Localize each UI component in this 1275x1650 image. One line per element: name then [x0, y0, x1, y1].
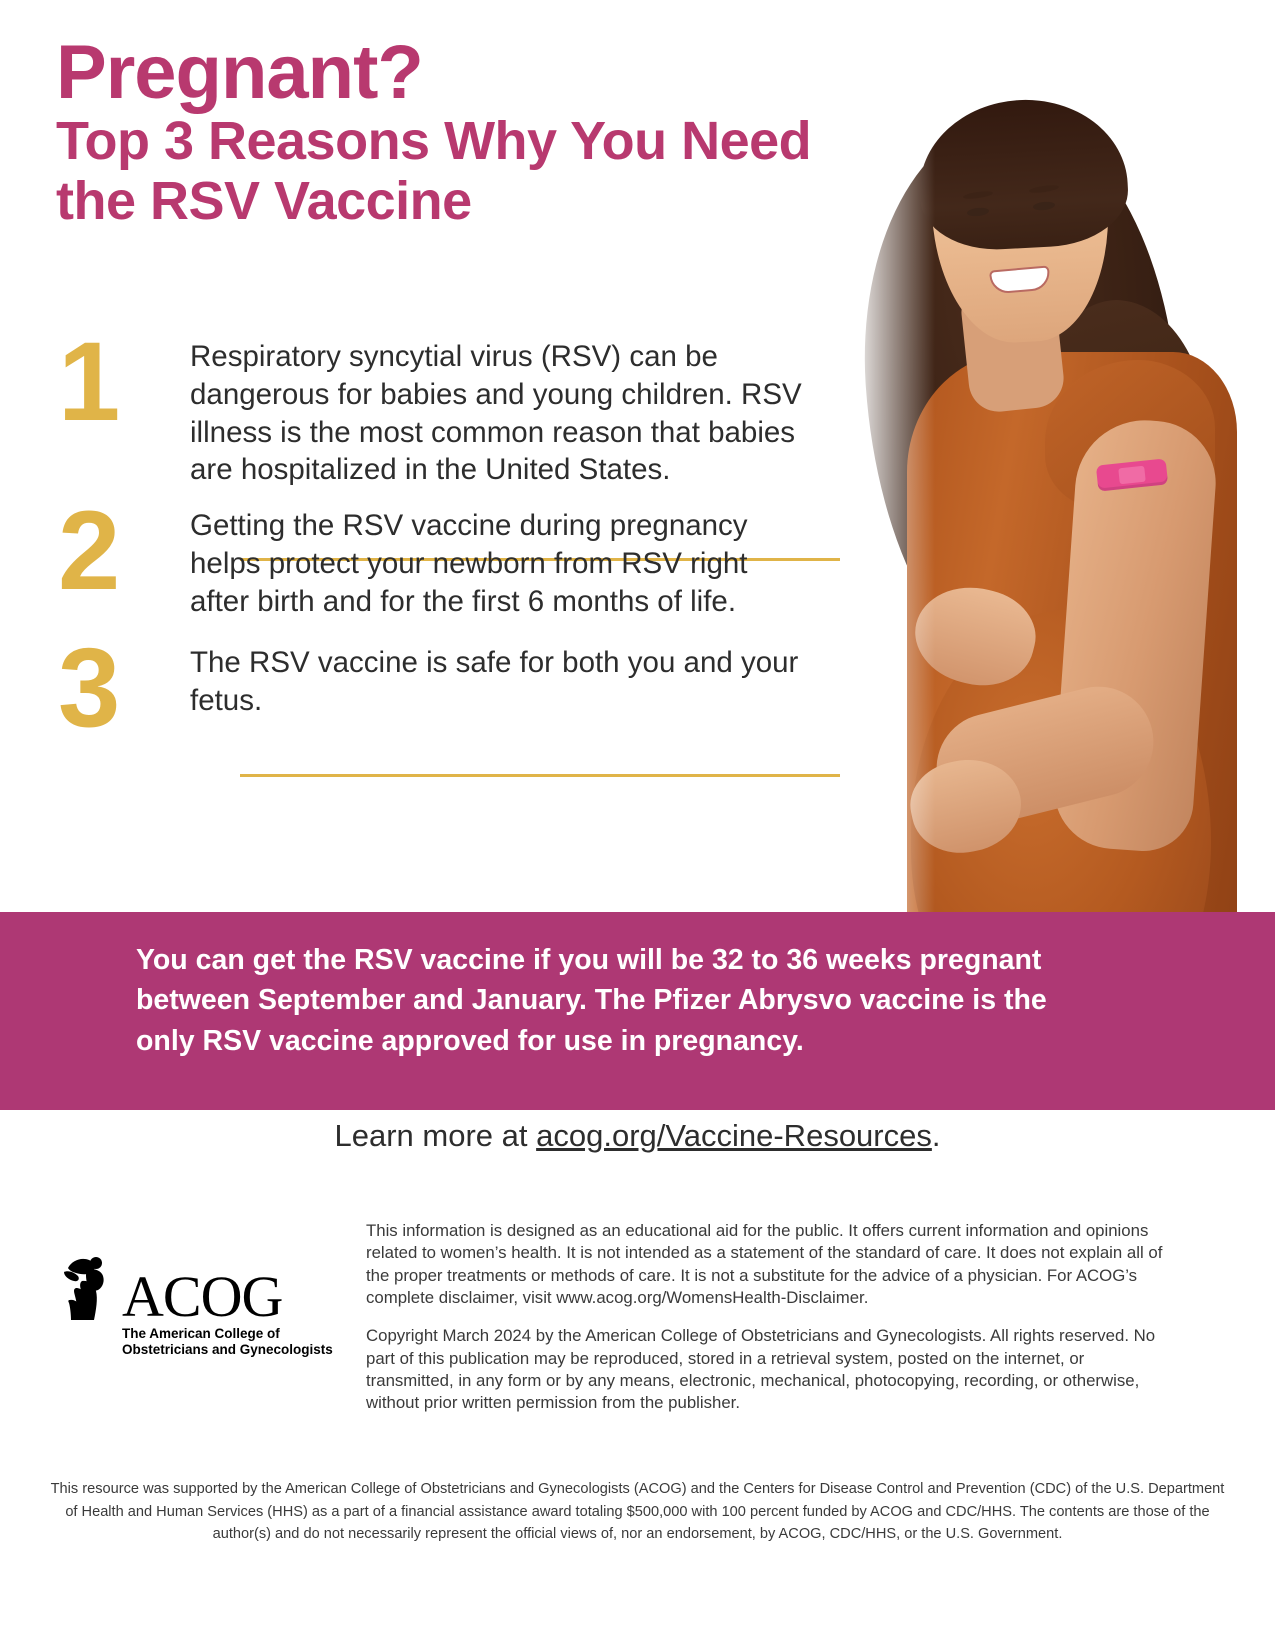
reason-text: Getting the RSV vaccine during pregnancy… — [190, 499, 810, 620]
page-title: Pregnant? Top 3 Reasons Why You Need the… — [56, 36, 836, 231]
acog-tagline-line-2: Obstetricians and Gynecologists — [122, 1342, 338, 1358]
acog-wordmark: ACOG — [122, 1273, 282, 1322]
disclaimer-block: This information is designed as an educa… — [366, 1220, 1166, 1415]
acog-resources-link[interactable]: acog.org/Vaccine-Resources — [536, 1118, 932, 1153]
list-item: 1 Respiratory syncytial virus (RSV) can … — [50, 330, 810, 489]
acog-logo: ACOG The American College of Obstetricia… — [58, 1248, 338, 1359]
headline-line-2: Top 3 Reasons Why You Need the RSV Vacci… — [56, 112, 836, 231]
disclaimer-paragraph-1: This information is designed as an educa… — [366, 1220, 1166, 1309]
divider — [240, 774, 840, 777]
list-item: 3 The RSV vaccine is safe for both you a… — [50, 636, 810, 739]
headline-line-1: Pregnant? — [56, 36, 836, 110]
reasons-list: 1 Respiratory syncytial virus (RSV) can … — [50, 330, 810, 739]
highlight-banner: You can get the RSV vaccine if you will … — [0, 912, 1275, 1110]
list-item: 2 Getting the RSV vaccine during pregnan… — [50, 499, 810, 620]
photo-fade-top — [815, 0, 1275, 90]
learn-more-line: Learn more at acog.org/Vaccine-Resources… — [0, 1118, 1275, 1154]
banner-text: You can get the RSV vaccine if you will … — [136, 940, 1096, 1061]
disclaimer-paragraph-2: Copyright March 2024 by the American Col… — [366, 1325, 1166, 1414]
learn-more-prefix: Learn more at — [335, 1118, 537, 1153]
funding-statement: This resource was supported by the Ameri… — [0, 1478, 1275, 1546]
learn-more-suffix: . — [932, 1118, 941, 1153]
reason-text: The RSV vaccine is safe for both you and… — [190, 636, 810, 720]
reason-number: 1 — [50, 330, 190, 433]
acog-tagline: The American College of Obstetricians an… — [122, 1326, 338, 1359]
hair-top-shape — [915, 95, 1130, 254]
acog-tagline-line-1: The American College of — [122, 1326, 338, 1342]
reason-number: 3 — [50, 636, 190, 739]
reason-number: 2 — [50, 499, 190, 602]
reason-text: Respiratory syncytial virus (RSV) can be… — [190, 330, 810, 489]
acog-mother-and-child-icon — [58, 1248, 116, 1322]
